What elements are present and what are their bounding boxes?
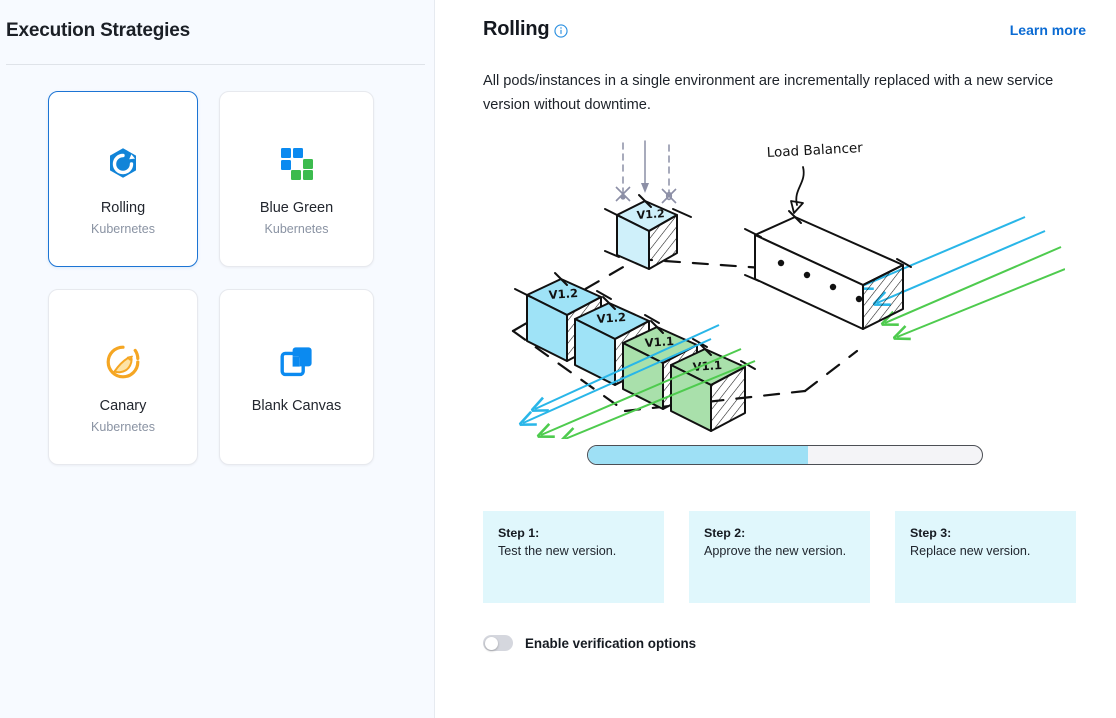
svg-text:V1.2: V1.2 bbox=[596, 310, 626, 326]
svg-text:V1.2: V1.2 bbox=[548, 286, 578, 302]
load-balancer-box bbox=[745, 211, 911, 329]
panel-title-group: Rolling bbox=[483, 18, 568, 41]
strategy-card-name: Blue Green bbox=[260, 200, 333, 216]
canary-bird-icon bbox=[105, 342, 141, 382]
strategy-card-name: Rolling bbox=[101, 200, 145, 216]
step-card-2: Step 2: Approve the new version. bbox=[689, 511, 870, 603]
strategy-card-subtitle: Kubernetes bbox=[91, 222, 155, 236]
strategies-sidebar: Execution Strategies Rolling Kubernetes bbox=[0, 0, 435, 718]
step-text: Approve the new version. bbox=[704, 544, 856, 558]
strategy-card-blue-green[interactable]: Blue Green Kubernetes bbox=[219, 91, 374, 267]
strategy-card-blank-canvas[interactable]: Blank Canvas bbox=[219, 289, 374, 465]
load-balancer-annotation: Load Balancer bbox=[766, 140, 863, 213]
strategy-card-subtitle: Kubernetes bbox=[265, 222, 329, 236]
step-text: Test the new version. bbox=[498, 544, 650, 558]
strategy-card-canary[interactable]: Canary Kubernetes bbox=[48, 289, 198, 465]
strategy-title: Rolling bbox=[483, 18, 549, 41]
step-title: Step 2: bbox=[704, 526, 856, 540]
info-circle-icon[interactable] bbox=[554, 24, 568, 38]
strategy-description: All pods/instances in a single environme… bbox=[483, 69, 1068, 117]
pod-row: V1.2 V1.2 V1.1 bbox=[515, 273, 755, 431]
strategy-card-rolling[interactable]: Rolling Kubernetes bbox=[48, 91, 198, 267]
load-balancer-label: Load Balancer bbox=[766, 140, 863, 161]
strategy-detail-panel: Rolling Learn more All pods/instances in… bbox=[435, 0, 1116, 718]
rollout-progress-wrapper bbox=[483, 445, 1086, 465]
blank-canvas-layers-icon bbox=[280, 342, 314, 382]
execution-strategies-screen: Execution Strategies Rolling Kubernetes bbox=[0, 0, 1116, 718]
svg-text:V1.2: V1.2 bbox=[636, 207, 665, 222]
rollout-progress-fill bbox=[588, 446, 809, 464]
panel-header: Rolling Learn more bbox=[483, 18, 1086, 41]
strategy-card-subtitle: Kubernetes bbox=[91, 420, 155, 434]
step-title: Step 3: bbox=[910, 526, 1062, 540]
deploying-pod: V1.2 bbox=[605, 141, 691, 269]
step-text: Replace new version. bbox=[910, 544, 1062, 558]
rolling-strategy-illustration: V1.2 V1.2 bbox=[483, 139, 1086, 439]
steps-list: Step 1: Test the new version. Step 2: Ap… bbox=[483, 511, 1086, 603]
svg-text:V1.1: V1.1 bbox=[692, 358, 722, 374]
verification-options-row: Enable verification options bbox=[483, 635, 1086, 651]
strategy-card-name: Canary bbox=[100, 398, 147, 414]
page-title: Execution Strategies bbox=[6, 0, 418, 42]
rolling-hexagon-arrow-icon bbox=[105, 144, 141, 184]
step-title: Step 1: bbox=[498, 526, 650, 540]
strategy-card-grid: Rolling Kubernetes Blue Green Kubern bbox=[48, 65, 418, 465]
strategy-card-name: Blank Canvas bbox=[252, 398, 341, 414]
step-card-3: Step 3: Replace new version. bbox=[895, 511, 1076, 603]
enable-verification-toggle[interactable] bbox=[483, 635, 513, 651]
blue-green-grid-icon bbox=[280, 144, 314, 184]
rollout-progress-bar[interactable] bbox=[587, 445, 983, 465]
enable-verification-label: Enable verification options bbox=[525, 636, 696, 651]
learn-more-link[interactable]: Learn more bbox=[1010, 22, 1086, 38]
step-card-1: Step 1: Test the new version. bbox=[483, 511, 664, 603]
toggle-knob bbox=[485, 637, 498, 650]
